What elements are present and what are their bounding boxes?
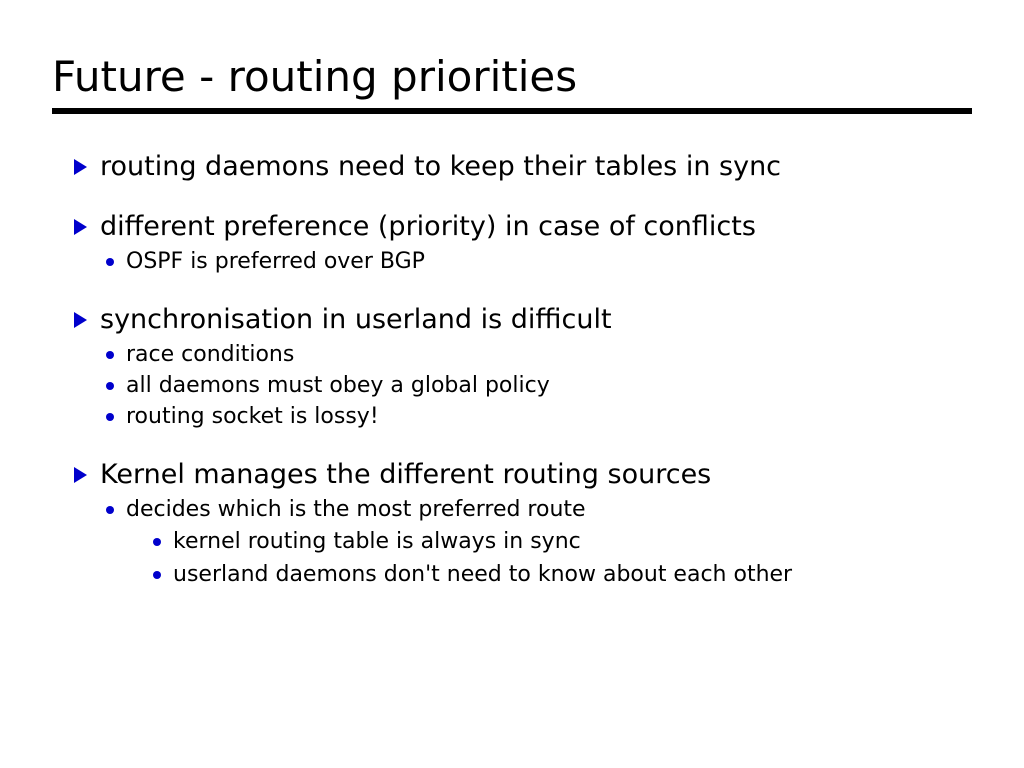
bullet-group: synchronisation in userland is difficult… <box>0 303 1024 432</box>
bullet-group: routing daemons need to keep their table… <box>0 150 1024 184</box>
list-item-label: race conditions <box>126 339 294 370</box>
list-item-label: OSPF is preferred over BGP <box>126 246 425 277</box>
list-item-level1: routing daemons need to keep their table… <box>0 150 1024 184</box>
list-item-level3: kernel routing table is always in sync <box>0 525 1024 558</box>
list-item-level1: different preference (priority) in case … <box>0 210 1024 244</box>
list-item-level3: userland daemons don't need to know abou… <box>0 558 1024 591</box>
list-item-level1: Kernel manages the different routing sou… <box>0 458 1024 492</box>
list-item-label: different preference (priority) in case … <box>100 210 756 244</box>
list-item-label: synchronisation in userland is difficult <box>100 303 612 337</box>
page-title: Future - routing priorities <box>52 52 972 102</box>
list-item-level1: synchronisation in userland is difficult <box>0 303 1024 337</box>
list-item-level2: all daemons must obey a global policy <box>0 370 1024 401</box>
dot-icon <box>106 401 126 432</box>
list-item-label: Kernel manages the different routing sou… <box>100 458 711 492</box>
bullet-group: different preference (priority) in case … <box>0 210 1024 277</box>
list-item-level2: decides which is the most preferred rout… <box>0 494 1024 525</box>
list-item-label: all daemons must obey a global policy <box>126 370 550 401</box>
triangle-right-icon <box>74 150 100 184</box>
list-item-label: userland daemons don't need to know abou… <box>173 558 792 591</box>
list-item-level2: routing socket is lossy! <box>0 401 1024 432</box>
slide: Future - routing priorities routing daem… <box>0 0 1024 768</box>
list-item-level2: race conditions <box>0 339 1024 370</box>
list-item-label: routing socket is lossy! <box>126 401 379 432</box>
bullet-group: Kernel manages the different routing sou… <box>0 458 1024 591</box>
list-item-label: decides which is the most preferred rout… <box>126 494 586 525</box>
list-item-label: kernel routing table is always in sync <box>173 525 581 558</box>
bullet-list: routing daemons need to keep their table… <box>0 150 1024 591</box>
title-block: Future - routing priorities <box>52 52 972 114</box>
list-item-level2: OSPF is preferred over BGP <box>0 246 1024 277</box>
dot-icon <box>153 558 173 591</box>
triangle-right-icon <box>74 458 100 492</box>
dot-icon <box>106 494 126 525</box>
dot-icon <box>106 246 126 277</box>
list-item-label: routing daemons need to keep their table… <box>100 150 781 184</box>
dot-icon <box>106 339 126 370</box>
triangle-right-icon <box>74 303 100 337</box>
title-divider <box>52 108 972 114</box>
dot-icon <box>153 525 173 558</box>
triangle-right-icon <box>74 210 100 244</box>
dot-icon <box>106 370 126 401</box>
